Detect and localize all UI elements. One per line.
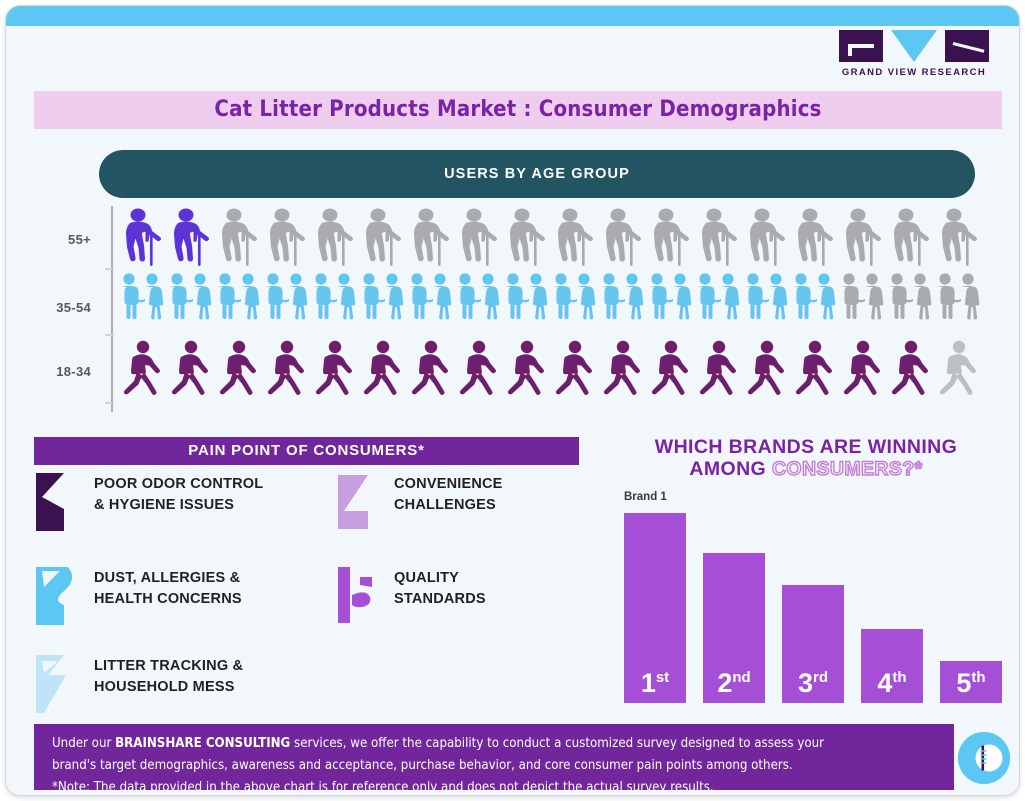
age-group-header: USERS BY AGE GROUP bbox=[99, 150, 975, 198]
pain-point-item-3: LITTER TRACKING &HOUSEHOLD MESS bbox=[34, 653, 243, 715]
walking-person-icon-filled bbox=[789, 338, 837, 402]
footer-note: Under our BRAINSHARE CONSULTING services… bbox=[34, 724, 954, 790]
elderly-person-with-cane-icon-empty bbox=[261, 206, 309, 270]
pictogram-row-18-34 bbox=[117, 338, 981, 402]
row-label-18-34: 18-34 bbox=[56, 364, 91, 379]
pain-point-item-5: QUALITYSTANDARDS bbox=[334, 565, 486, 627]
bar-4th: 4th bbox=[861, 629, 923, 703]
walking-person-icon-filled bbox=[693, 338, 741, 402]
couple-holding-hands-icon-filled bbox=[405, 271, 453, 335]
elderly-person-with-cane-icon-empty bbox=[213, 206, 261, 270]
numeral-2-icon bbox=[34, 565, 80, 627]
footer-pre: Under our bbox=[52, 736, 115, 751]
numeral-4-icon bbox=[334, 471, 380, 533]
pain-point-item-2: DUST, ALLERGIES &HEALTH CONCERNS bbox=[34, 565, 242, 627]
page-title: Cat Litter Products Market : Consumer De… bbox=[34, 91, 1002, 129]
walking-person-icon-filled bbox=[597, 338, 645, 402]
infographic-frame: GRAND VIEW RESEARCH Cat Litter Products … bbox=[6, 6, 1019, 795]
top-accent-bar bbox=[6, 6, 1019, 26]
bar-5th: 5th bbox=[940, 661, 1002, 703]
walking-person-icon-filled bbox=[213, 338, 261, 402]
couple-holding-hands-icon-filled bbox=[357, 271, 405, 335]
bar-2nd: 2nd bbox=[703, 553, 765, 703]
pain-point-item-1: POOR ODOR CONTROL& HYGIENE ISSUES bbox=[34, 471, 263, 533]
walking-person-icon-empty bbox=[933, 338, 981, 402]
footer-paragraph-1: Under our BRAINSHARE CONSULTING services… bbox=[52, 735, 936, 753]
elderly-person-with-cane-icon-empty bbox=[837, 206, 885, 270]
bar-rank-label: 4th bbox=[861, 670, 923, 697]
page-title-text: Cat Litter Products Market : Consumer De… bbox=[34, 91, 1002, 129]
bar-3rd: 3rd bbox=[782, 585, 844, 703]
logo-slash bbox=[953, 42, 985, 53]
pain-point-label: DUST, ALLERGIES &HEALTH CONCERNS bbox=[94, 565, 242, 610]
brands-title-line2: AMONG CONSUMERS?* bbox=[606, 458, 1006, 480]
numeral-5-icon bbox=[334, 565, 380, 627]
pain-point-label: POOR ODOR CONTROL& HYGIENE ISSUES bbox=[94, 471, 263, 516]
elderly-person-with-cane-icon-empty bbox=[933, 206, 981, 270]
elderly-person-with-cane-icon-empty bbox=[885, 206, 933, 270]
footer-note-line: *Note: The data provided in the above ch… bbox=[52, 779, 936, 795]
pain-point-label: CONVENIENCECHALLENGES bbox=[394, 471, 503, 516]
footer-brand: BRAINSHARE CONSULTING bbox=[115, 736, 290, 751]
walking-person-icon-filled bbox=[885, 338, 933, 402]
couple-holding-hands-icon-filled bbox=[165, 271, 213, 335]
numeral-3-icon bbox=[34, 653, 80, 715]
walking-person-icon-filled bbox=[117, 338, 165, 402]
pain-point-item-4: CONVENIENCECHALLENGES bbox=[334, 471, 503, 533]
age-group-pictogram: 55+ 35-54 18-34 bbox=[99, 206, 979, 416]
footer-post: services, we offer the capability to con… bbox=[290, 736, 824, 751]
couple-holding-hands-icon-filled bbox=[309, 271, 357, 335]
walking-person-icon-filled bbox=[549, 338, 597, 402]
elderly-person-with-cane-icon-empty bbox=[789, 206, 837, 270]
walking-person-icon-filled bbox=[165, 338, 213, 402]
row-label-35-54: 35-54 bbox=[56, 300, 91, 315]
brands-title-hollow: CONSUMERS?* bbox=[772, 458, 923, 480]
couple-holding-hands-icon-filled bbox=[261, 271, 309, 335]
brands-chart-title: WHICH BRANDS ARE WINNING AMONG CONSUMERS… bbox=[606, 436, 1006, 481]
couple-holding-hands-icon-filled bbox=[693, 271, 741, 335]
brands-title-line1: WHICH BRANDS ARE WINNING bbox=[606, 436, 1006, 458]
pictogram-row-labels: 55+ 35-54 18-34 bbox=[21, 206, 91, 412]
couple-holding-hands-icon-filled bbox=[741, 271, 789, 335]
walking-person-icon-filled bbox=[645, 338, 693, 402]
gvr-logo: GRAND VIEW RESEARCH bbox=[839, 30, 989, 80]
walking-person-icon-filled bbox=[261, 338, 309, 402]
elderly-person-with-cane-icon-empty bbox=[549, 206, 597, 270]
pain-point-label: QUALITYSTANDARDS bbox=[394, 565, 486, 610]
logo-wordmark: GRAND VIEW RESEARCH bbox=[839, 67, 989, 78]
pain-points-grid: POOR ODOR CONTROL& HYGIENE ISSUESCONVENI… bbox=[34, 471, 586, 706]
couple-holding-hands-icon-filled bbox=[453, 271, 501, 335]
bar-rank-label: 3rd bbox=[782, 670, 844, 697]
elderly-person-with-cane-icon-empty bbox=[405, 206, 453, 270]
walking-person-icon-filled bbox=[453, 338, 501, 402]
couple-holding-hands-icon-empty bbox=[885, 271, 933, 335]
couple-holding-hands-icon-filled bbox=[789, 271, 837, 335]
pictogram-row-55plus bbox=[117, 206, 981, 270]
walking-person-icon-filled bbox=[501, 338, 549, 402]
logo-block-left bbox=[839, 30, 883, 62]
elderly-person-with-cane-icon-filled bbox=[117, 206, 165, 270]
elderly-person-with-cane-icon-empty bbox=[693, 206, 741, 270]
walking-person-icon-filled bbox=[357, 338, 405, 402]
pain-point-label: LITTER TRACKING &HOUSEHOLD MESS bbox=[94, 653, 243, 698]
elderly-person-with-cane-icon-empty bbox=[645, 206, 693, 270]
logo-block-right bbox=[945, 30, 989, 62]
walking-person-icon-filled bbox=[405, 338, 453, 402]
elderly-person-with-cane-icon-empty bbox=[357, 206, 405, 270]
bar-rank-label: 2nd bbox=[703, 670, 765, 697]
walking-person-icon-filled bbox=[837, 338, 885, 402]
couple-holding-hands-icon-filled bbox=[117, 271, 165, 335]
pictogram-axis bbox=[111, 206, 113, 412]
elderly-person-with-cane-icon-empty bbox=[597, 206, 645, 270]
numeral-1-icon bbox=[34, 471, 80, 533]
couple-holding-hands-icon-empty bbox=[933, 271, 981, 335]
couple-holding-hands-icon-filled bbox=[645, 271, 693, 335]
bar-rank-label: 5th bbox=[940, 670, 1002, 697]
axis-tick bbox=[105, 402, 114, 404]
bar-rank-label: 1st bbox=[624, 670, 686, 697]
logo-triangle-icon bbox=[891, 30, 937, 62]
brands-title-solid: AMONG bbox=[689, 458, 772, 480]
elderly-person-with-cane-icon-filled bbox=[165, 206, 213, 270]
brands-bar-chart: Brand 1 1st2nd3rd4th5th bbox=[606, 491, 1006, 706]
elderly-person-with-cane-icon-empty bbox=[501, 206, 549, 270]
brainshare-logo-icon bbox=[958, 732, 1010, 784]
gvr-logo-icon bbox=[839, 30, 989, 62]
logo-notch-v bbox=[848, 44, 852, 56]
elderly-person-with-cane-icon-empty bbox=[741, 206, 789, 270]
axis-tick bbox=[105, 268, 114, 270]
brainshare-glyph bbox=[958, 732, 1010, 784]
elderly-person-with-cane-icon-empty bbox=[309, 206, 357, 270]
walking-person-icon-filled bbox=[309, 338, 357, 402]
bar-1st: 1st bbox=[624, 513, 686, 703]
footer-paragraph-2: brand's target demographics, awareness a… bbox=[52, 757, 936, 775]
pictogram-row-35-54 bbox=[117, 271, 981, 335]
walking-person-icon-filled bbox=[741, 338, 789, 402]
couple-holding-hands-icon-filled bbox=[597, 271, 645, 335]
row-label-55plus: 55+ bbox=[68, 232, 91, 247]
brand-1-annotation: Brand 1 bbox=[624, 491, 667, 503]
couple-holding-hands-icon-filled bbox=[213, 271, 261, 335]
couple-holding-hands-icon-filled bbox=[501, 271, 549, 335]
elderly-person-with-cane-icon-empty bbox=[453, 206, 501, 270]
couple-holding-hands-icon-empty bbox=[837, 271, 885, 335]
pain-points-header: PAIN POINT OF CONSUMERS* bbox=[34, 437, 579, 465]
couple-holding-hands-icon-filled bbox=[549, 271, 597, 335]
axis-tick bbox=[105, 334, 114, 336]
